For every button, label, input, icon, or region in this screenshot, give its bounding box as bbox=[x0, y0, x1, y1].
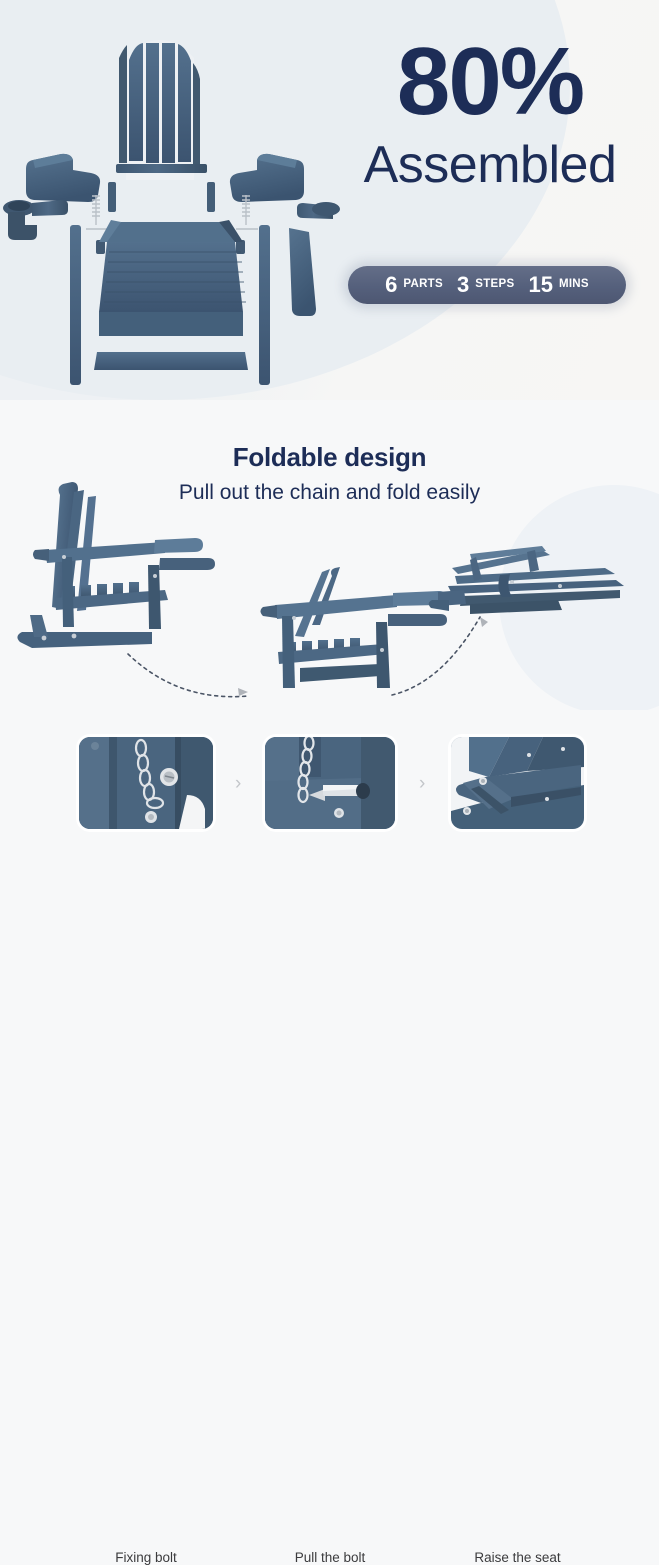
chair-upright-side-view bbox=[17, 482, 215, 648]
percent-block: 80% Assembled bbox=[340, 34, 640, 193]
step-thumbnail-fixing-bolt[interactable] bbox=[79, 737, 213, 829]
part-left-block bbox=[96, 240, 105, 254]
part-left-cupholder-arm bbox=[3, 200, 68, 240]
folding-sequence-illustration bbox=[0, 400, 659, 710]
chair-fully-folded-flat bbox=[429, 546, 624, 614]
step-caption-3: Raise the seat bbox=[451, 1550, 584, 1565]
fold-arrow-2 bbox=[392, 617, 480, 695]
part-bottom-rail bbox=[94, 352, 248, 370]
step-separator-1: › bbox=[235, 773, 241, 795]
assembled-label: Assembled bbox=[340, 138, 640, 193]
parts-label: PARTS bbox=[403, 279, 443, 291]
specs-badge: 6 PARTS 3 STEPS 15 MINS bbox=[348, 266, 626, 304]
fold-arrow-1 bbox=[128, 654, 248, 697]
chair-partially-folded bbox=[261, 567, 448, 688]
fold-arrow-1-head bbox=[238, 688, 248, 696]
part-right-rail bbox=[259, 225, 270, 385]
part-left-armrest bbox=[26, 154, 100, 202]
step-separator-2: › bbox=[419, 773, 425, 795]
step-thumbnail-raise-seat[interactable] bbox=[451, 737, 584, 829]
steps-count: 3 bbox=[457, 274, 469, 296]
foldable-design-section: Foldable design Pull out the chain and f… bbox=[0, 400, 659, 710]
part-seat-assembly bbox=[99, 220, 246, 336]
step-caption-2: Pull the bolt bbox=[265, 1550, 395, 1565]
fold-arrow-2-head bbox=[480, 617, 488, 627]
steps-label: STEPS bbox=[475, 279, 514, 291]
mins-label: MINS bbox=[559, 279, 589, 291]
part-left-rail bbox=[70, 225, 81, 385]
part-right-front-leg bbox=[289, 228, 316, 316]
part-backrest-slats bbox=[108, 40, 215, 212]
part-right-cupholder-arm bbox=[297, 202, 340, 219]
exploded-chair-parts-diagram bbox=[0, 0, 340, 400]
chain-and-fixing-bolt-closeup bbox=[79, 737, 213, 829]
assembly-steps-section: › › bbox=[0, 710, 659, 879]
step-caption-1: Fixing bolt bbox=[79, 1550, 213, 1565]
assembly-hero-section: 80% Assembled 6 PARTS 3 STEPS 15 MINS bbox=[0, 0, 659, 400]
parts-count: 6 bbox=[385, 274, 397, 296]
step-thumbnail-pull-bolt[interactable] bbox=[265, 737, 395, 829]
bolt-pulled-out-closeup bbox=[265, 737, 395, 829]
percent-value: 80% bbox=[340, 34, 640, 130]
seat-raised-hinge-closeup bbox=[451, 737, 584, 829]
mins-count: 15 bbox=[528, 274, 552, 296]
part-right-armrest bbox=[230, 154, 304, 202]
